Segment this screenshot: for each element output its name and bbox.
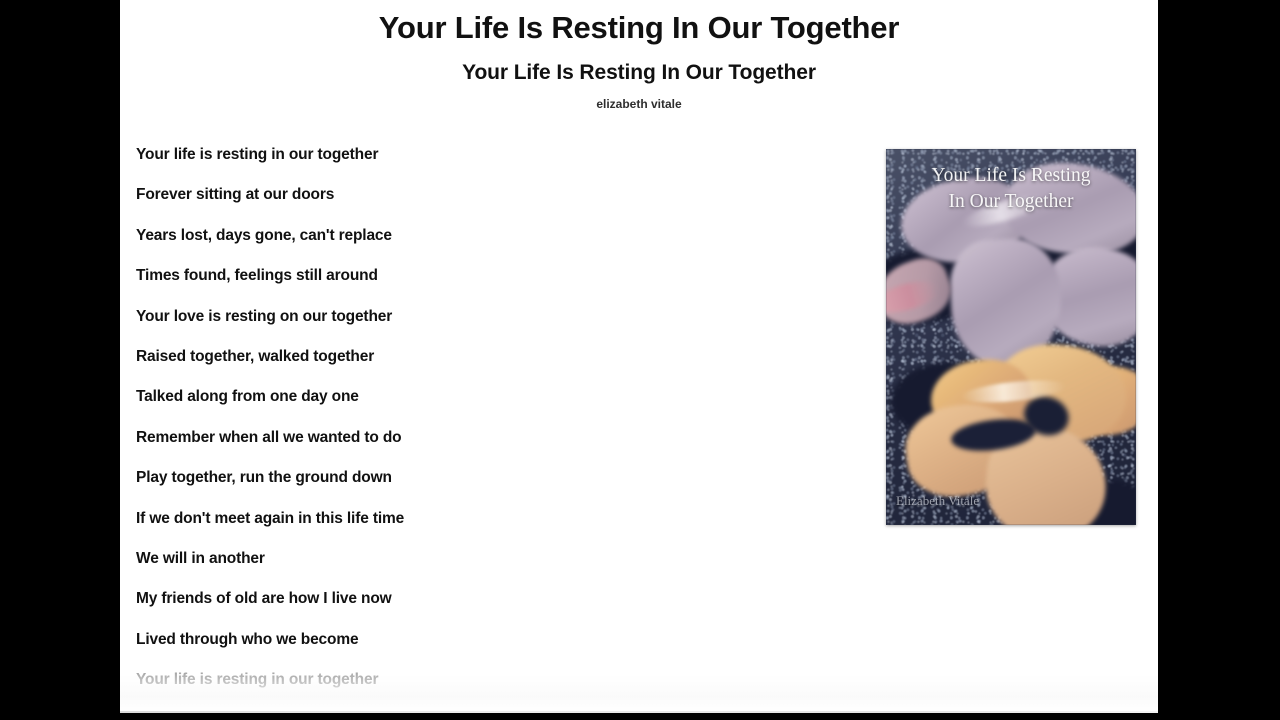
page-title: Your Life Is Resting In Our Together (120, 8, 1158, 48)
lyric-line: Lived through who we become (136, 629, 756, 669)
lyrics-page: Your Life Is Resting In Our Together You… (120, 0, 1158, 713)
author-byline: elizabeth vitale (120, 97, 1158, 112)
video-viewport: Your Life Is Resting In Our Together You… (0, 0, 1280, 720)
lyric-line: Remember when all we wanted to do (136, 427, 756, 467)
lyrics-list: Your life is resting in our together For… (136, 144, 756, 709)
lyric-line: My friends of old are how I live now (136, 588, 756, 628)
lyric-line: If we don't meet again in this life time (136, 508, 756, 548)
cover-title-line-2: In Our Together (886, 189, 1136, 215)
book-cover-image: Your Life Is Resting In Our Together Eli… (886, 149, 1136, 525)
cover-title-line-1: Your Life Is Resting (886, 163, 1136, 189)
lyric-line: Your life is resting in our together (136, 669, 756, 709)
lyric-line: We will in another (136, 548, 756, 588)
book-cover: Your Life Is Resting In Our Together Eli… (886, 149, 1136, 525)
cover-author: Elizabeth Vitale (896, 493, 979, 509)
lyric-line: Raised together, walked together (136, 346, 756, 386)
lyric-line: Talked along from one day one (136, 386, 756, 426)
cover-title: Your Life Is Resting In Our Together (886, 163, 1136, 215)
lyric-line: Your love is resting on our together (136, 306, 756, 346)
lyric-line: Years lost, days gone, can't replace (136, 225, 756, 265)
heading-block: Your Life Is Resting In Our Together You… (120, 0, 1158, 112)
lyric-line: Times found, feelings still around (136, 265, 756, 305)
song-subtitle: Your Life Is Resting In Our Together (120, 60, 1158, 86)
letterbox-bar-left (0, 0, 120, 720)
lyric-line: Forever sitting at our doors (136, 184, 756, 224)
page-bottom-rule (120, 711, 1158, 713)
lyric-line: Play together, run the ground down (136, 467, 756, 507)
lyric-line: Your life is resting in our together (136, 144, 756, 184)
letterbox-bar-right (1158, 0, 1280, 720)
